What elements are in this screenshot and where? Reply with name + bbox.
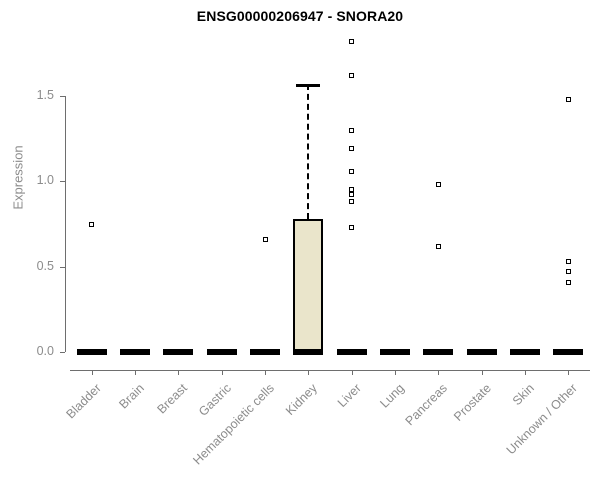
y-tick-label: 1.0 xyxy=(20,173,54,187)
outlier-point-bladder[interactable] xyxy=(89,222,94,227)
y-tick-mark xyxy=(60,96,65,97)
x-tick-mark xyxy=(222,370,223,375)
x-tick-mark xyxy=(135,370,136,375)
outlier-point-hematopoietic-cells[interactable] xyxy=(263,237,268,242)
y-tick-mark xyxy=(60,181,65,182)
y-tick-label: 0.5 xyxy=(20,259,54,273)
box-prostate[interactable] xyxy=(467,349,497,355)
chart-title: ENSG00000206947 - SNORA20 xyxy=(0,8,600,24)
x-tick-mark xyxy=(438,370,439,375)
outlier-point-liver[interactable] xyxy=(349,146,354,151)
x-axis-line xyxy=(70,370,590,371)
x-tick-mark xyxy=(308,370,309,375)
x-tick-mark xyxy=(568,370,569,375)
outlier-point-liver[interactable] xyxy=(349,199,354,204)
outlier-point-pancreas[interactable] xyxy=(436,182,441,187)
outlier-point-unknown-other[interactable] xyxy=(566,259,571,264)
box-breast[interactable] xyxy=(163,349,193,355)
box-unknown-other[interactable] xyxy=(553,349,583,355)
median-line-kidney xyxy=(293,349,323,355)
box-gastric[interactable] xyxy=(207,349,237,355)
y-tick-label-wrap: 0.0 xyxy=(12,344,54,358)
x-tick-mark xyxy=(92,370,93,375)
y-tick-label-wrap: 0.5 xyxy=(12,259,54,273)
y-tick-label-wrap: 1.0 xyxy=(12,173,54,187)
outlier-point-liver[interactable] xyxy=(349,128,354,133)
box-brain[interactable] xyxy=(120,349,150,355)
box-lung[interactable] xyxy=(380,349,410,355)
outlier-point-liver[interactable] xyxy=(349,169,354,174)
outlier-point-liver[interactable] xyxy=(349,73,354,78)
outlier-point-unknown-other[interactable] xyxy=(566,97,571,102)
box-skin[interactable] xyxy=(510,349,540,355)
y-tick-label: 1.5 xyxy=(20,88,54,102)
x-tick-mark xyxy=(482,370,483,375)
y-tick-label: 0.0 xyxy=(20,344,54,358)
box-pancreas[interactable] xyxy=(423,349,453,355)
whisker-upper-kidney xyxy=(307,84,309,219)
outlier-point-unknown-other[interactable] xyxy=(566,269,571,274)
box-liver[interactable] xyxy=(337,349,367,355)
outlier-point-liver[interactable] xyxy=(349,225,354,230)
y-tick-mark xyxy=(60,352,65,353)
y-tick-label-wrap: 1.5 xyxy=(12,88,54,102)
outlier-point-liver[interactable] xyxy=(349,39,354,44)
box-bladder[interactable] xyxy=(77,349,107,355)
outlier-point-liver[interactable] xyxy=(349,192,354,197)
x-tick-mark xyxy=(265,370,266,375)
box-kidney[interactable] xyxy=(293,219,323,352)
x-tick-mark xyxy=(178,370,179,375)
outlier-point-pancreas[interactable] xyxy=(436,244,441,249)
whisker-cap-kidney xyxy=(296,84,320,87)
box-hematopoietic-cells[interactable] xyxy=(250,349,280,355)
x-tick-mark xyxy=(525,370,526,375)
chart-canvas: ENSG00000206947 - SNORA20 Expression 0.0… xyxy=(0,0,600,500)
x-tick-mark xyxy=(395,370,396,375)
y-axis-line xyxy=(65,96,66,352)
y-tick-mark xyxy=(60,267,65,268)
outlier-point-unknown-other[interactable] xyxy=(566,280,571,285)
x-tick-mark xyxy=(352,370,353,375)
